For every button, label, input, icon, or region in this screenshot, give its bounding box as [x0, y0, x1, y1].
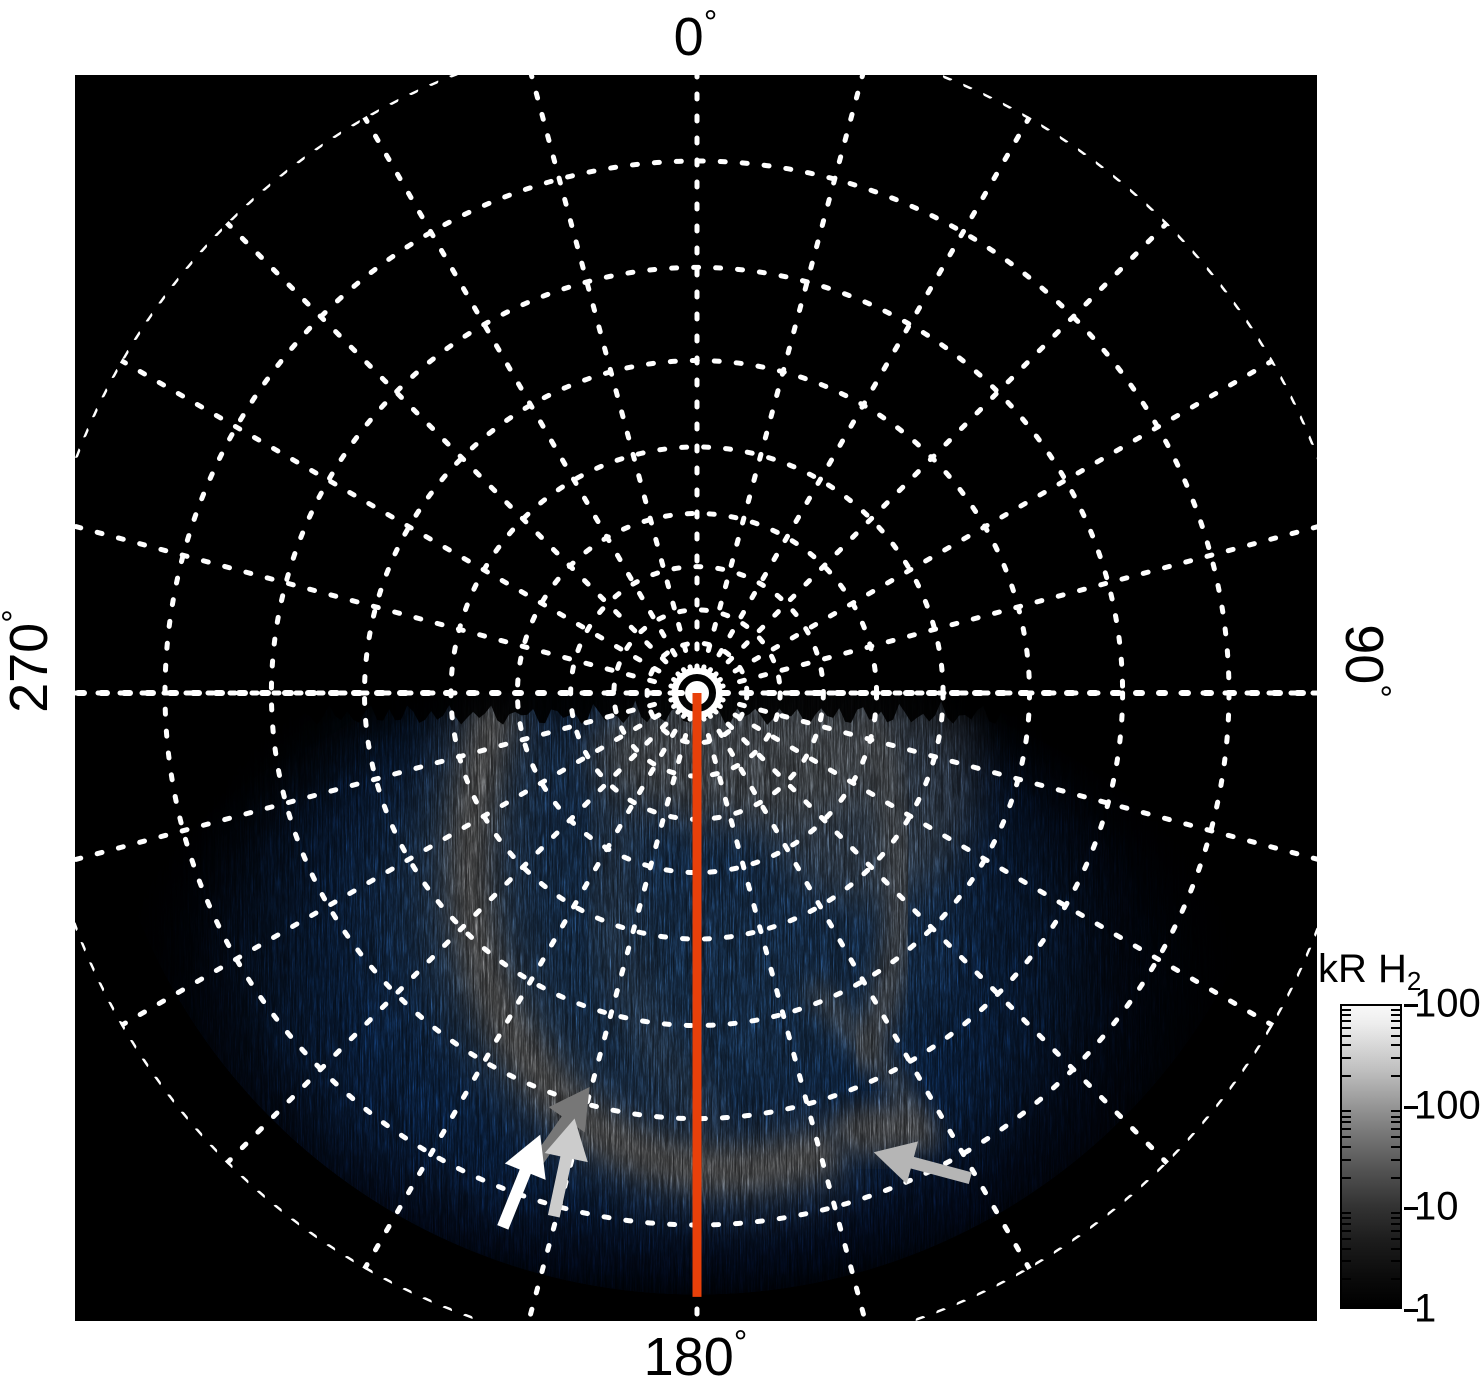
- colorbar-gradient: [1340, 1004, 1402, 1309]
- colorbar-minor-tick: [1391, 1116, 1400, 1118]
- colorbar-minor-tick: [1391, 1260, 1400, 1262]
- axis-label-top: 0°: [0, 6, 1391, 64]
- colorbar-minor-tick: [1391, 1128, 1400, 1130]
- colorbar-minor-tick: [1342, 1009, 1351, 1011]
- colorbar-minor-tick: [1342, 1159, 1351, 1161]
- colorbar-minor-tick: [1342, 1014, 1351, 1016]
- colorbar-minor-tick: [1391, 1014, 1400, 1016]
- colorbar-minor-tick: [1342, 1044, 1351, 1046]
- degree-symbol-left: °: [0, 609, 34, 623]
- colorbar-minor-tick: [1342, 1223, 1351, 1225]
- colorbar-minor-tick: [1391, 1223, 1400, 1225]
- colorbar-minor-tick: [1342, 1278, 1351, 1280]
- colorbar-minor-tick: [1342, 1217, 1351, 1219]
- colorbar-minor-tick: [1391, 1057, 1400, 1059]
- colorbar-minor-tick: [1391, 1121, 1400, 1123]
- colorbar-minor-tick: [1391, 1238, 1400, 1240]
- polar-plot-panel[interactable]: [75, 75, 1317, 1321]
- colorbar-minor-tick: [1342, 1238, 1351, 1240]
- colorbar-minor-tick: [1342, 1027, 1351, 1029]
- axis-label-left: 270°: [0, 571, 56, 751]
- colorbar-minor-tick: [1391, 1278, 1400, 1280]
- grid-spoke: [697, 361, 1273, 694]
- degree-symbol-right: °: [1359, 684, 1397, 698]
- grid-spoke: [227, 223, 697, 693]
- colorbar-minor-tick: [1391, 1212, 1400, 1214]
- axis-label-bottom: 180°: [0, 1326, 1391, 1384]
- degree-symbol-top: °: [704, 4, 718, 42]
- colorbar-minor-tick: [1391, 1146, 1400, 1148]
- colorbar-minor-tick: [1391, 1136, 1400, 1138]
- colorbar-minor-tick: [1342, 1146, 1351, 1148]
- colorbar-minor-tick: [1342, 1230, 1351, 1232]
- colorbar-minor-tick: [1391, 1230, 1400, 1232]
- colorbar-minor-tick: [1342, 1121, 1351, 1123]
- colorbar-title: kR H2: [1318, 947, 1421, 997]
- colorbar-minor-tick: [1391, 1248, 1400, 1250]
- colorbar-minor-tick: [1342, 1177, 1351, 1179]
- grid-spoke: [121, 361, 697, 694]
- colorbar-minor-tick: [1391, 1159, 1400, 1161]
- colorbar-minor-tick: [1342, 1075, 1351, 1077]
- colorbar-tick-label: 1000: [1414, 982, 1481, 1027]
- colorbar-minor-tick: [1391, 1027, 1400, 1029]
- grid-spoke: [365, 117, 698, 693]
- grid-spoke: [697, 75, 869, 693]
- colorbar-minor-tick: [1391, 1009, 1400, 1011]
- colorbar-minor-tick: [1342, 1035, 1351, 1037]
- colorbar-minor-tick: [1342, 1020, 1351, 1022]
- axis-label-right: 90°: [1337, 571, 1395, 751]
- colorbar-tick-label: 1: [1414, 1287, 1436, 1332]
- colorbar-tick-label: 10: [1414, 1185, 1459, 1230]
- colorbar: kR H2 1000100101: [1318, 947, 1481, 1327]
- polar-plot-canvas: [75, 75, 1317, 1321]
- colorbar-minor-tick: [1342, 1260, 1351, 1262]
- colorbar-minor-tick: [1391, 1044, 1400, 1046]
- degree-symbol-bottom: °: [734, 1324, 748, 1362]
- colorbar-minor-tick: [1342, 1136, 1351, 1138]
- colorbar-minor-tick: [1342, 1057, 1351, 1059]
- colorbar-minor-tick: [1391, 1020, 1400, 1022]
- polar-aurora-figure: 0° 180° 270° 90° kR H2 1000100101: [0, 0, 1481, 1386]
- colorbar-minor-tick: [1342, 1110, 1351, 1112]
- grid-spoke: [697, 117, 1030, 693]
- colorbar-minor-tick: [1391, 1075, 1400, 1077]
- colorbar-minor-tick: [1391, 1177, 1400, 1179]
- colorbar-minor-tick: [1391, 1035, 1400, 1037]
- colorbar-minor-tick: [1342, 1116, 1351, 1118]
- colorbar-minor-tick: [1342, 1248, 1351, 1250]
- colorbar-minor-tick: [1391, 1110, 1400, 1112]
- colorbar-tick-label: 100: [1414, 1083, 1481, 1128]
- colorbar-minor-tick: [1342, 1128, 1351, 1130]
- colorbar-minor-tick: [1391, 1217, 1400, 1219]
- colorbar-minor-tick: [1342, 1212, 1351, 1214]
